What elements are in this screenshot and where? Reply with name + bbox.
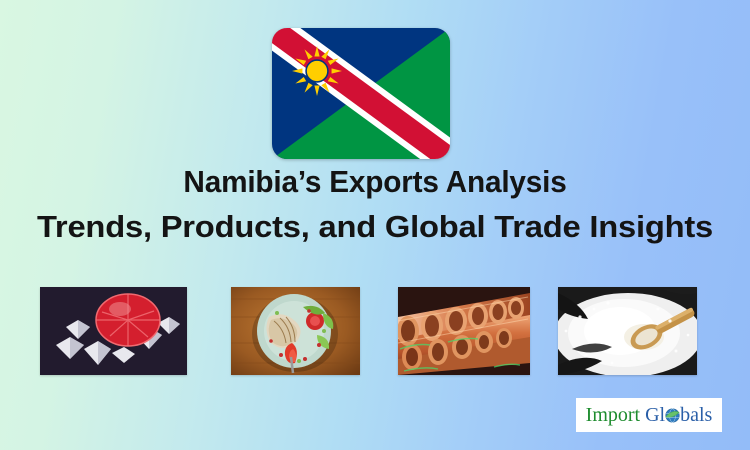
- export-analysis-banner: Namibia’s Exports Analysis Trends, Produ…: [0, 0, 750, 450]
- product-image-fish-seafood-dish: [231, 287, 360, 375]
- namibia-flag: [272, 28, 450, 159]
- title-line-1: Namibia’s Exports Analysis: [15, 166, 735, 197]
- import-globals-logo[interactable]: Import Gl bals: [576, 398, 722, 432]
- product-image-copper-pipes: [398, 287, 530, 375]
- flag-graphic: [272, 28, 450, 159]
- globe-icon: [665, 408, 680, 423]
- logo-word-bals: bals: [680, 405, 712, 425]
- title-line-2: Trends, Products, and Global Trade Insig…: [0, 211, 750, 242]
- logo-word-import: Import: [586, 405, 640, 425]
- logo-word-gl: Gl: [645, 405, 665, 425]
- product-image-diamonds-and-gemstones: [40, 287, 187, 375]
- banner-title: Namibia’s Exports Analysis Trends, Produ…: [0, 166, 750, 242]
- sun-icon: [291, 45, 343, 97]
- logo-text: Import Gl bals: [586, 405, 713, 425]
- product-image-salt: [558, 287, 697, 375]
